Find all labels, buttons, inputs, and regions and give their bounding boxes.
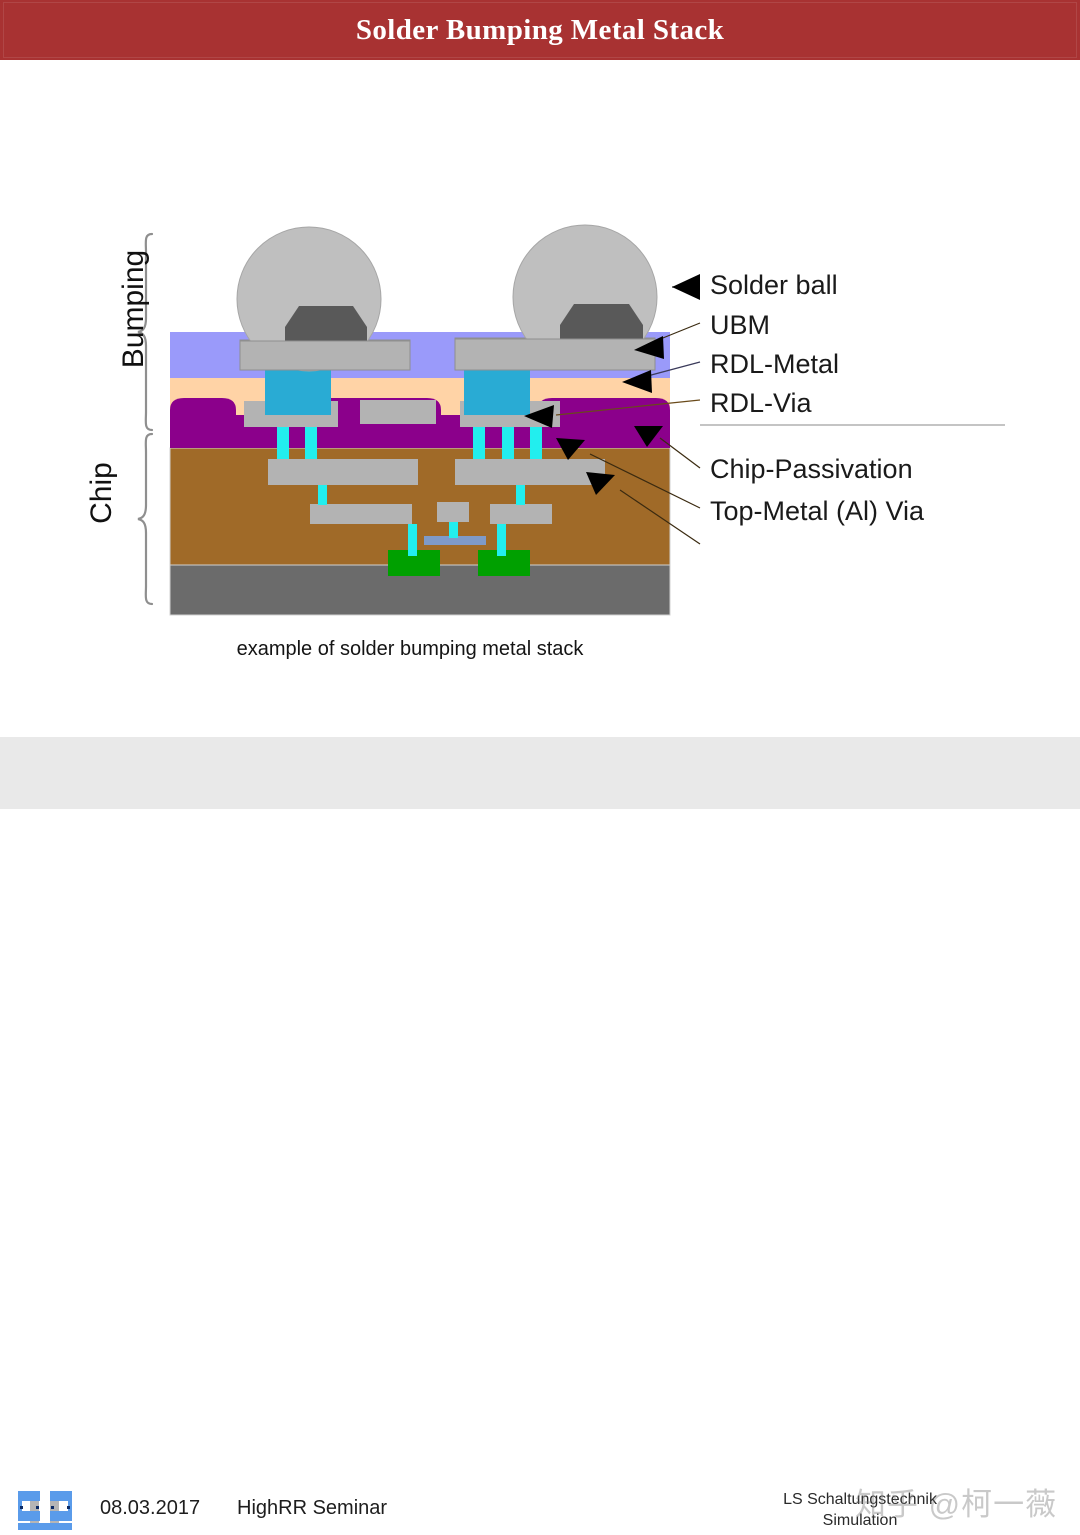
group-label-chip: Chip [85, 443, 119, 543]
metal1-right [490, 504, 552, 524]
contact-gate [449, 522, 458, 538]
metal-plate-wide-left [268, 459, 418, 485]
callout-label-rdl-metal: RDL-Metal [710, 351, 839, 378]
callout-label-solder-ball: Solder ball [710, 272, 838, 299]
slide-body: Bumping Chip Solder ball UBM RDL-Metal R… [0, 60, 1080, 737]
metal-plate-wide-right [455, 459, 605, 485]
via-wide-to-m1-right [516, 485, 525, 505]
callout-label-chip-passivation: Chip-Passivation [710, 456, 913, 483]
watermark: 知乎 @柯一薇 [855, 1479, 1057, 1524]
top-metal-mid [360, 400, 436, 424]
callout-label-ubm: UBM [710, 312, 770, 339]
footer-date: 08.03.2017 [100, 1497, 200, 1520]
slide-header: Solder Bumping Metal Stack [0, 0, 1080, 60]
ubm-left-front [285, 306, 367, 345]
footer-event: HighRR Seminar [237, 1497, 387, 1520]
callout-label-top-metal-via: Top-Metal (Al) Via [710, 498, 924, 525]
contact-right [497, 524, 506, 556]
solder-bump-cross-section-figure [0, 60, 1080, 737]
page-title: Solder Bumping Metal Stack [0, 0, 1080, 60]
group-label-bumping: Bumping [117, 239, 151, 379]
via-wide-to-m1-left [318, 485, 327, 505]
circuit-logo-icon [14, 1485, 76, 1535]
slide-footer: 08.03.2017 HighRR Seminar LS Schaltungst… [0, 737, 1080, 809]
cross-section-svg [0, 60, 1080, 737]
contact-left [408, 524, 417, 556]
via-stack-right [473, 427, 542, 459]
metal1-left [310, 504, 412, 524]
bracket-chip [138, 434, 152, 604]
rdl-metal-left-top [240, 341, 410, 370]
metal1-gate [437, 502, 469, 522]
callout-label-rdl-via: RDL-Via [710, 390, 812, 417]
figure-caption: example of solder bumping metal stack [140, 638, 680, 661]
rdl-metal-right-top [455, 339, 655, 370]
